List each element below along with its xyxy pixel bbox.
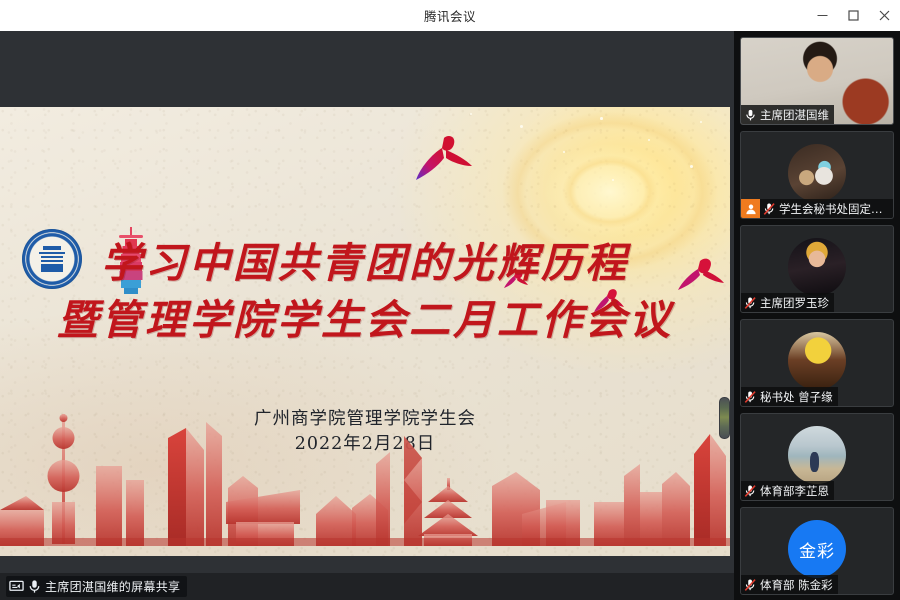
participant-tile[interactable]: 金彩 体育部 陈金彩 bbox=[740, 507, 894, 595]
participant-tile[interactable]: 学生会秘书处固定志... bbox=[740, 131, 894, 219]
avatar bbox=[788, 426, 846, 484]
bird-decoration-icon bbox=[414, 132, 474, 184]
participant-name: 学生会秘书处固定志... bbox=[779, 201, 889, 217]
slide-main-title: 学习中国共青团的光辉历程 暨管理学院学生会二月工作会议 bbox=[0, 235, 730, 348]
avatar-initials: 金彩 bbox=[788, 520, 846, 578]
share-status-bar: 主席团湛国维的屏幕共享 bbox=[0, 573, 734, 600]
avatar bbox=[788, 332, 846, 390]
monitor-icon bbox=[9, 579, 24, 594]
participant-name: 主席团罗玉珍 bbox=[760, 295, 829, 311]
share-status-label: 主席团湛国维的屏幕共享 bbox=[45, 578, 180, 595]
avatar bbox=[788, 238, 846, 296]
shared-content-scrollbar[interactable] bbox=[719, 397, 730, 439]
participant-name: 主席团湛国维 bbox=[760, 107, 829, 123]
close-button[interactable] bbox=[869, 0, 900, 31]
presentation-slide: 学习中国共青团的光辉历程 暨管理学院学生会二月工作会议 广州商学院管理学院学生会… bbox=[0, 107, 730, 556]
participant-tile[interactable]: 主席团罗玉珍 bbox=[740, 225, 894, 313]
mic-icon bbox=[28, 579, 41, 594]
participant-label: 学生会秘书处固定志... bbox=[741, 199, 894, 218]
maximize-icon bbox=[848, 10, 859, 21]
mic-muted-icon bbox=[760, 199, 779, 218]
participant-tile[interactable]: 体育部李芷恩 bbox=[740, 413, 894, 501]
participant-tile[interactable]: 秘书处 曾子缘 bbox=[740, 319, 894, 407]
mic-muted-icon bbox=[741, 481, 760, 500]
shared-screen-stage: 学习中国共青团的光辉历程 暨管理学院学生会二月工作会议 广州商学院管理学院学生会… bbox=[0, 31, 734, 600]
window-controls bbox=[807, 0, 900, 31]
raise-hand-badge-icon bbox=[741, 199, 760, 218]
mic-muted-icon bbox=[741, 387, 760, 406]
participant-label: 主席团湛国维 bbox=[741, 105, 834, 124]
skyline-illustration bbox=[0, 406, 730, 556]
tencent-meeting-window: 腾讯会议 bbox=[0, 0, 900, 600]
participant-name: 体育部 陈金彩 bbox=[760, 577, 833, 593]
title-bar: 腾讯会议 bbox=[0, 0, 900, 32]
close-icon bbox=[879, 10, 890, 21]
participant-label: 秘书处 曾子缘 bbox=[741, 387, 838, 406]
participant-label: 体育部李芷恩 bbox=[741, 481, 834, 500]
minimize-icon bbox=[817, 10, 828, 21]
minimize-button[interactable] bbox=[807, 0, 838, 31]
mic-muted-icon bbox=[741, 575, 760, 594]
share-status-pill: 主席团湛国维的屏幕共享 bbox=[6, 576, 187, 597]
participant-tile[interactable]: 主席团湛国维 bbox=[740, 37, 894, 125]
mic-muted-icon bbox=[741, 293, 760, 312]
mic-icon bbox=[741, 105, 760, 124]
participant-rail[interactable]: 主席团湛国维 bbox=[734, 31, 900, 600]
participant-label: 主席团罗玉珍 bbox=[741, 293, 834, 312]
participant-name: 秘书处 曾子缘 bbox=[760, 389, 833, 405]
participant-label: 体育部 陈金彩 bbox=[741, 575, 838, 594]
avatar bbox=[788, 144, 846, 202]
participant-name: 体育部李芷恩 bbox=[760, 483, 829, 499]
maximize-button[interactable] bbox=[838, 0, 869, 31]
window-title: 腾讯会议 bbox=[424, 6, 476, 25]
